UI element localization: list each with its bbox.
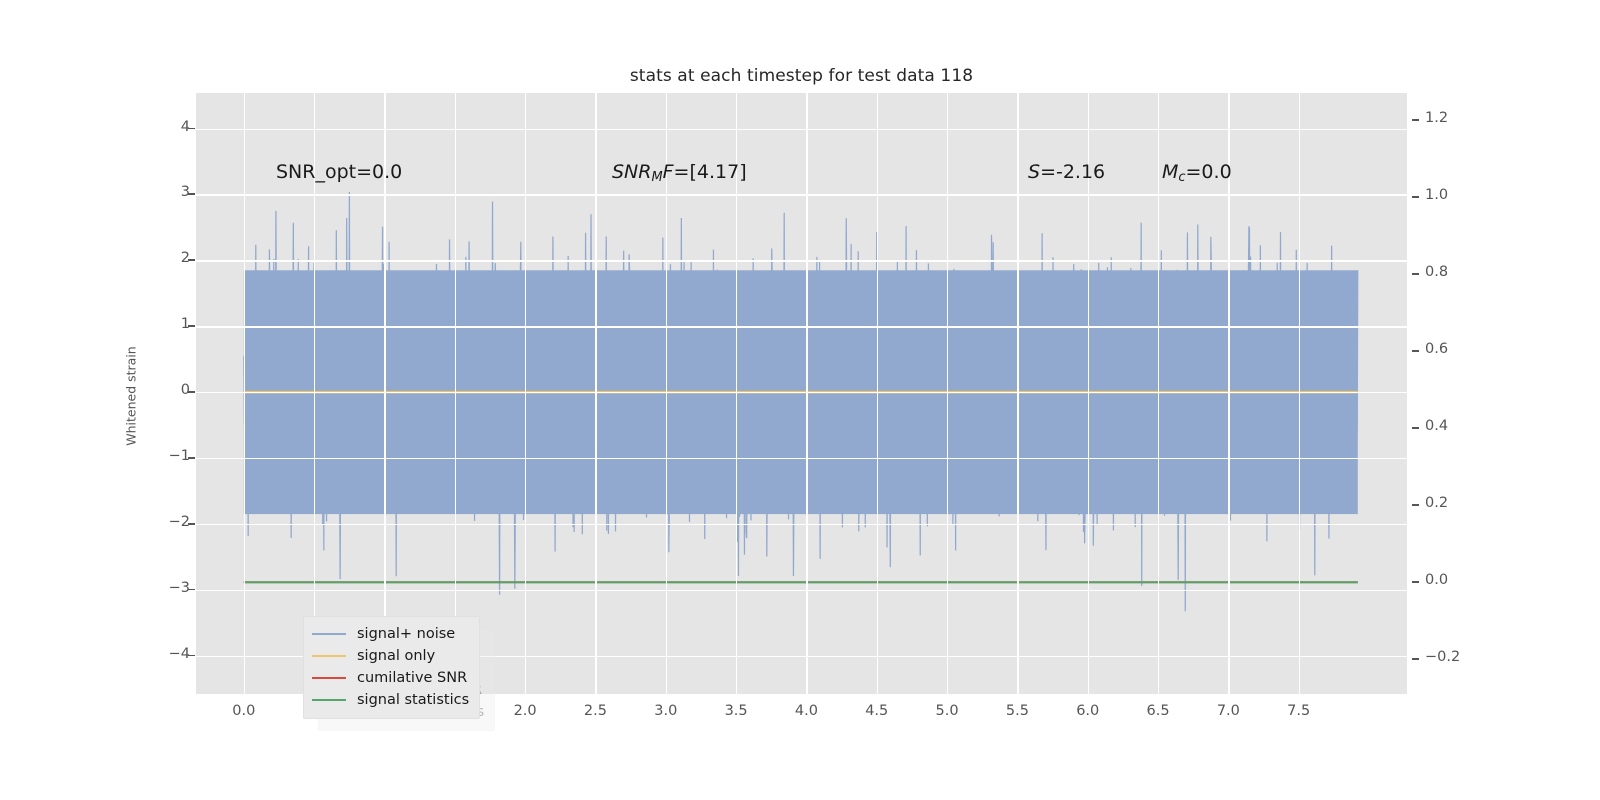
x-axis-tick-label: 4.0	[795, 703, 818, 719]
y-axis-left-tick-mark	[188, 457, 195, 459]
y-axis-left-tick-mark	[188, 523, 195, 525]
y-axis-left-tick-label: −3	[169, 580, 190, 596]
y-axis-left-tick-mark	[188, 391, 195, 393]
annotation-snr-mf-prefix: SNR	[612, 161, 651, 183]
y-axis-left-tick-label: 0	[181, 382, 190, 398]
y-axis-right-tick-label: 1.2	[1425, 110, 1448, 126]
gridline-vertical	[947, 93, 948, 694]
y-axis-right-tick-mark	[1412, 273, 1419, 275]
legend-label: signal+ noise	[357, 626, 455, 642]
legend-swatch-1	[312, 655, 346, 658]
legend-swatch-3	[312, 699, 346, 702]
legend-item[interactable]: cumilative SNR	[312, 667, 469, 689]
y-axis-right-tick-mark	[1412, 658, 1419, 660]
y-axis-left-tick-label: −1	[169, 448, 190, 464]
y-axis-right-tick-mark	[1412, 427, 1419, 429]
gridline-vertical	[1017, 93, 1018, 694]
x-axis-tick-label: 3.0	[654, 703, 677, 719]
y-axis-right-tick-label: 0.0	[1425, 572, 1448, 588]
gridline-vertical	[455, 93, 456, 694]
legend-label: cumilative SNR	[357, 670, 467, 686]
y-axis-left-tick-mark	[188, 589, 195, 591]
gridline-horizontal	[196, 129, 1407, 130]
y-axis-right-tick-label: −0.2	[1425, 649, 1460, 665]
y-axis-left-tick-label: −4	[169, 646, 190, 662]
y-axis-right-tick-mark	[1412, 196, 1419, 198]
y-axis-left-tick-mark	[188, 325, 195, 327]
gridline-vertical	[314, 93, 315, 694]
annotation-mc: Mc=0.0	[1162, 161, 1232, 185]
annotation-mc-sub: c	[1178, 170, 1185, 185]
y-axis-left-tick-label: 4	[181, 119, 190, 135]
figure-canvas: stats at each timestep for test data 118…	[0, 0, 1600, 800]
legend-swatch-0	[312, 633, 346, 636]
annotation-s-value: =-2.16	[1040, 161, 1105, 183]
legend[interactable]: signal+ noisesignal onlycumilative SNRsi…	[303, 616, 480, 719]
annotation-s-label: S	[1028, 161, 1040, 183]
gridline-horizontal	[196, 260, 1407, 261]
y-axis-right-tick-label: 0.4	[1425, 418, 1448, 434]
annotation-snr-opt-value: 0.0	[372, 161, 402, 183]
gridline-horizontal	[196, 524, 1407, 525]
annotation-snr-mf-mid: F=	[663, 161, 690, 183]
gridline-vertical	[595, 93, 596, 694]
x-axis-tick-label: 5.5	[1006, 703, 1029, 719]
gridline-vertical	[877, 93, 878, 694]
x-axis-tick-label: 4.5	[865, 703, 888, 719]
legend-item[interactable]: signal only	[312, 645, 469, 667]
x-axis-tick-label: 0.0	[232, 703, 255, 719]
gridline-vertical	[1088, 93, 1089, 694]
annotation-snr-mf: SNRMF=[4.17]	[612, 161, 747, 185]
annotation-snr-mf-sub: M	[651, 170, 662, 185]
legend-item[interactable]: signal+ noise	[312, 623, 469, 645]
gridline-vertical	[244, 93, 245, 694]
y-axis-right-tick-label: 0.8	[1425, 264, 1448, 280]
x-axis-tick-label: 7.0	[1217, 703, 1240, 719]
x-axis-tick-label: 2.5	[584, 703, 607, 719]
x-axis-tick-label: 2.0	[514, 703, 537, 719]
gridline-vertical	[384, 93, 385, 694]
legend-label: signal statistics	[357, 692, 469, 708]
annotation-snr-opt: SNR_opt=0.0	[276, 161, 402, 183]
y-axis-left-tick-label: 2	[181, 250, 190, 266]
x-axis-tick-label: 7.5	[1287, 703, 1310, 719]
y-axis-left-tick-mark	[188, 259, 195, 261]
gridline-vertical	[806, 93, 807, 694]
y-axis-left-tick-mark	[188, 193, 195, 195]
x-axis-tick-label: 3.5	[725, 703, 748, 719]
annotation-snr-mf-value: [4.17]	[689, 161, 746, 183]
legend-swatch-2	[312, 677, 346, 680]
y-axis-left-tick-label: −2	[169, 514, 190, 530]
annotation-mc-label: M	[1162, 161, 1178, 183]
gridline-horizontal	[196, 194, 1407, 195]
y-axis-right-tick-mark	[1412, 581, 1419, 583]
legend-label: signal only	[357, 648, 435, 664]
y-axis-right-tick-label: 1.0	[1425, 187, 1448, 203]
y-axis-right-tick-mark	[1412, 350, 1419, 352]
legend-item[interactable]: signal statistics	[312, 689, 469, 711]
y-axis-left-tick-label: 3	[181, 184, 190, 200]
x-axis-tick-label: 6.5	[1147, 703, 1170, 719]
gridline-horizontal	[196, 392, 1407, 393]
y-axis-left-tick-label: 1	[181, 316, 190, 332]
x-axis-tick-label: 6.0	[1076, 703, 1099, 719]
y-axis-left-tick-mark	[188, 655, 195, 657]
x-axis-tick-label: 5.0	[936, 703, 959, 719]
gridline-vertical	[1158, 93, 1159, 694]
y-axis-right-tick-label: 0.2	[1425, 495, 1448, 511]
annotation-snr-opt-label: SNR_opt=	[276, 161, 372, 183]
y-axis-left-label: Whitened strain	[124, 346, 139, 445]
annotation-mc-value: =0.0	[1186, 161, 1232, 183]
y-axis-right-tick-label: 0.6	[1425, 341, 1448, 357]
annotation-s: S=-2.16	[1028, 161, 1105, 183]
gridline-vertical	[525, 93, 526, 694]
gridline-horizontal	[196, 458, 1407, 459]
y-axis-left-tick-mark	[188, 128, 195, 130]
page-title: stats at each timestep for test data 118	[196, 66, 1407, 86]
y-axis-right-tick-mark	[1412, 119, 1419, 121]
gridline-horizontal	[196, 590, 1407, 591]
y-axis-right-tick-mark	[1412, 504, 1419, 506]
gridline-vertical	[1299, 93, 1300, 694]
gridline-horizontal	[196, 326, 1407, 327]
